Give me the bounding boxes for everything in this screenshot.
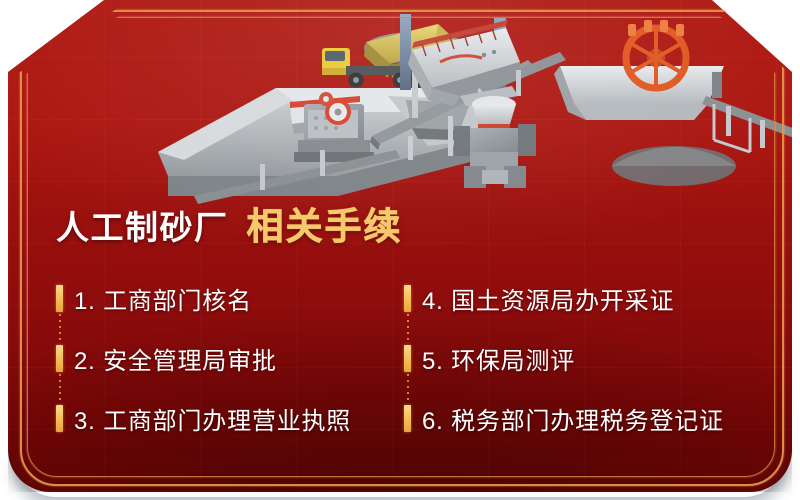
list-item-5[interactable]: 5. 环保局测评 [404, 328, 756, 388]
list-item-1[interactable]: 1. 工商部门核名 [56, 268, 404, 328]
list-item-2[interactable]: 2. 安全管理局审批 [56, 328, 404, 388]
step-marker-icon [404, 345, 411, 372]
belt-conveyor-main [370, 60, 536, 160]
vibrating-screen [400, 14, 520, 118]
banner-stage: 人工制砂厂 相关手续 1. 工商部门核名 4. 国土资源局办开采证 2. 安全管… [0, 0, 800, 500]
dump-truck [322, 24, 478, 88]
stockpile-right [612, 146, 736, 186]
stockpile-left [364, 31, 468, 64]
list-item-label: 5. 环保局测评 [422, 341, 575, 376]
sand-plant-svg [8, 0, 792, 205]
banner-title: 人工制砂厂 相关手续 [56, 196, 403, 250]
list-item-6[interactable]: 6. 税务部门办理税务登记证 [404, 388, 756, 448]
step-marker-icon [404, 405, 411, 432]
list-item-label: 6. 税务部门办理税务登记证 [422, 401, 724, 436]
belt-conveyor-output [702, 96, 792, 152]
belt-conveyor-screen-out [478, 52, 566, 96]
list-item-label: 2. 安全管理局审批 [74, 341, 277, 376]
vibrating-feeder [290, 96, 360, 134]
step-marker-icon [404, 285, 411, 312]
procedure-list: 1. 工商部门核名 4. 国土资源局办开采证 2. 安全管理局审批 5. 环保局… [56, 268, 756, 448]
step-marker-icon [56, 405, 63, 432]
step-marker-icon [56, 285, 63, 312]
title-primary: 人工制砂厂 [56, 201, 229, 249]
sand-plant-illustration [8, 0, 792, 200]
feed-platform [158, 88, 478, 196]
sand-washer [554, 20, 724, 120]
list-item-label: 4. 国土资源局办开采证 [422, 281, 674, 316]
washer-wheel [626, 20, 686, 88]
step-marker-icon [56, 345, 63, 372]
title-highlight: 相关手续 [247, 196, 403, 250]
list-item-4[interactable]: 4. 国土资源局办开采证 [404, 268, 756, 328]
list-item-label: 1. 工商部门核名 [74, 281, 252, 316]
vsi-sand-maker [454, 86, 536, 188]
list-item-label: 3. 工商部门办理营业执照 [74, 401, 351, 436]
list-item-3[interactable]: 3. 工商部门办理营业执照 [56, 388, 404, 448]
jaw-crusher [294, 92, 374, 162]
